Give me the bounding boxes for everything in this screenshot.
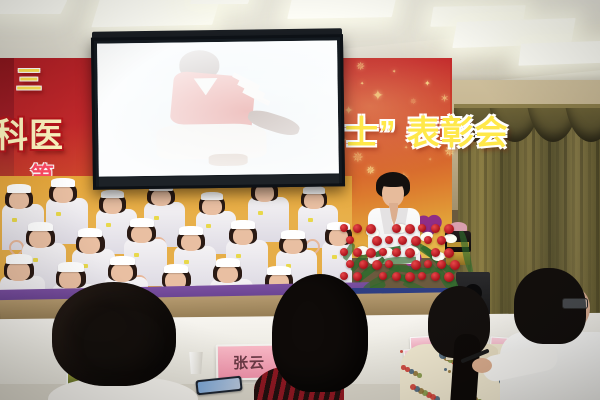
attendee-striped-top [272,274,368,400]
red-rose [424,236,432,244]
name-placard-text: 张云 [233,351,265,373]
banner-nurse-cap [7,184,31,193]
ceiling-light-panel [518,40,600,65]
red-rose [366,248,376,258]
banner-nurse-badge [258,211,263,215]
banner-nurse-face [304,192,323,209]
red-rose [431,272,440,281]
red-rose [424,260,432,268]
banner-nurse-cap [51,178,75,187]
red-rose [353,248,362,257]
banner-nurse-cap [303,186,325,194]
banner-nurse-cap [179,226,203,235]
ceremony-photo: ✦✶✵✦✶✵✦✶✵✦✶✵✦✶✵✦✶✵✦✶✵✦✶✵✦ 三 有健康 科医 十佳护士”… [0,0,600,400]
screen-weight-bar [99,174,339,186]
sparkle-icon: ✦ [424,80,431,88]
attendee-1-hair [52,282,176,386]
banner-nurse-face [111,263,133,282]
floral-motif [417,373,422,378]
red-rose [392,272,401,281]
floral-motif [444,368,447,371]
floral-motif [400,350,403,353]
red-rose [340,248,348,256]
banner-text-top-left: 三 [16,60,43,97]
eyeglasses-icon [562,298,588,309]
floral-motif [405,367,410,372]
banner-nurse-face [131,225,152,244]
banner-nurse-cap [78,228,103,237]
banner-nurse-face [29,229,51,248]
attendee-bob-haircut [52,282,176,400]
banner-nurse-badge [106,223,111,227]
sparkle-icon: ✵ [356,62,365,73]
floral-motif [413,371,418,376]
red-rose [385,236,393,244]
red-rose [340,224,348,232]
ceiling-light-panel [287,0,397,19]
red-rose [398,236,407,245]
red-rose [372,236,382,246]
attendee-white-coat [508,268,600,400]
red-rose [353,224,362,233]
sparkle-icon: ✦ [360,82,364,87]
floral-motif [409,369,414,374]
red-rose [431,248,440,257]
projector-glare [97,40,339,176]
red-rose [392,248,401,257]
banner-nurse-face [7,261,29,281]
red-rose [366,224,376,234]
banner-nurse-face [53,185,73,203]
banner-nurse-face [151,189,171,207]
banner-nurse-face [217,265,238,284]
sparkle-icon: ✶ [428,158,432,163]
banner-nurse-cap [28,222,53,231]
red-rose [418,272,426,280]
floral-motif [448,370,451,373]
ceiling-light-panel [190,0,252,4]
red-rose [411,236,421,246]
red-rose [437,236,446,245]
red-rose [359,260,368,269]
red-rose [444,224,454,234]
red-rose [392,224,401,233]
banner-nurse-badge [12,218,17,222]
banner-nurse-cap [231,220,255,229]
ceiling-light-panel [0,0,67,14]
banner-nurse-figure [0,254,45,294]
projection-screen-surface [97,40,339,176]
banner-nurse-face [202,198,221,215]
red-rose [372,260,382,270]
red-rose [418,224,426,232]
phone-screen [198,378,241,393]
red-rose [379,248,387,256]
red-rose [411,260,421,270]
banner-nurse-badge [308,218,313,222]
attendee-2-hair [272,274,368,392]
attendee-4-hand [472,358,492,373]
projection-screen [91,34,345,190]
sparkle-icon: ✦ [372,88,384,102]
red-rose [450,260,460,270]
banner-nurse-face [181,233,201,251]
red-rose [431,224,440,233]
banner-nurse-cap [110,256,135,265]
red-rose [405,224,415,234]
banner-nurse-cap [101,190,124,198]
sparkle-icon: ✶ [440,94,449,105]
red-rose [346,236,354,244]
red-rose [444,272,454,282]
red-rose [405,272,415,282]
banner-nurse-cap [201,192,223,200]
banner-nurse-face [233,227,253,245]
banner-nurse-cap [216,258,240,267]
sparkle-icon: ✶ [392,70,396,75]
red-rose [346,260,354,268]
banner-nurse-cap [58,262,84,272]
banner-nurse-face [103,196,123,213]
floral-motif [401,365,406,370]
banner-nurse-cap [6,254,32,264]
banner-nurse-face [79,235,100,254]
speaker-fringe [379,176,407,187]
banner-nurse-face [9,191,29,209]
red-rose [379,272,387,280]
banner-nurse-cap [281,230,304,239]
banner-nurse-face [283,237,303,255]
banner-nurse-cap [164,264,189,273]
banner-text-mid-left: 科医 [0,108,64,157]
red-rose [405,248,415,258]
ceiling-light-panel [91,0,220,27]
banner-nurse-cap [130,218,154,227]
sparkle-icon: ✵ [410,98,417,106]
red-rose [444,248,454,258]
banner-nurse-badge [56,212,61,216]
red-rose [385,260,393,268]
red-rose [437,260,446,269]
